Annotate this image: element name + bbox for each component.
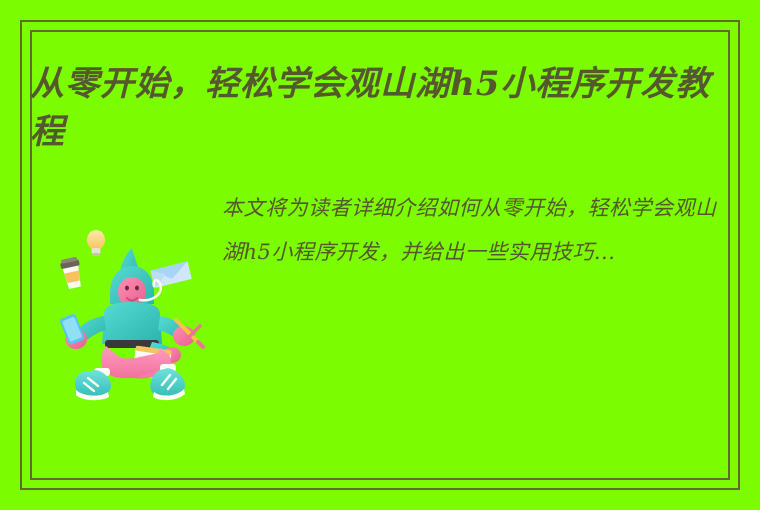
article-cover-card: 从零开始，轻松学会观山湖h5小程序开发教程 本文将为读者详细介绍如何从零开始，轻… [0,0,760,510]
envelope-icon [151,261,192,288]
lightbulb-icon [87,230,105,256]
coffee-cup-icon [59,256,84,289]
left-arm-with-phone [59,313,106,349]
right-arm-with-pen [158,316,203,347]
article-summary-text: 本文将为读者详细介绍如何从零开始，轻松学会观山湖h5小程序开发，并给出一些实用技… [222,186,718,274]
character-head [110,248,154,307]
multitasking-person-illustration [48,222,218,407]
page-title: 从零开始，轻松学会观山湖h5小程序开发教程 [30,60,730,157]
character-torso [102,302,162,344]
